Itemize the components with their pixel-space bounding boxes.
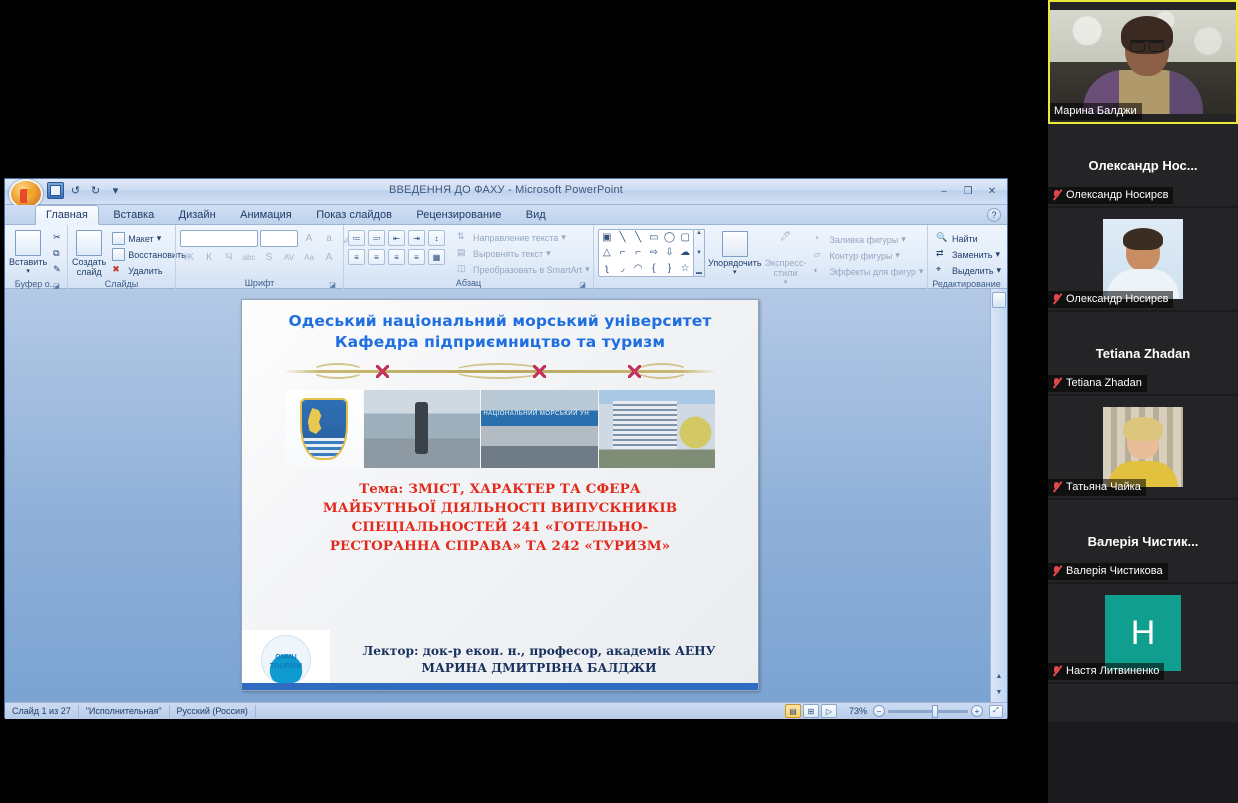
rectangle-shape-icon[interactable]: ▭ — [649, 232, 658, 243]
shield-icon — [300, 398, 348, 460]
shapes-scroll-up-icon[interactable]: ▲ — [696, 230, 702, 236]
convert-smartart-button[interactable]: ◫ Преобразовать в SmartArt ▾ — [453, 262, 594, 277]
font-row-top: A a 🖌 — [180, 230, 358, 247]
line-shape-icon[interactable]: ╲ — [619, 232, 625, 243]
participant-name-bar: Tetiana Zhadan — [1048, 375, 1147, 392]
avatar-hair — [1123, 228, 1163, 250]
participant-name-bar: Настя Литвиненко — [1048, 663, 1164, 680]
participant-tile-oleksandr-name[interactable]: Олександр Нос... Олександр Носирєв — [1048, 124, 1238, 208]
divider-swirl-center — [454, 363, 544, 379]
scissors-icon: ✂ — [53, 232, 66, 245]
participant-name: Олександр Носирєв — [1066, 292, 1168, 306]
line-spacing-icon[interactable]: ↕ — [428, 230, 445, 246]
tab-insert[interactable]: Вставка — [103, 206, 164, 226]
shape-outline-icon: ▱ — [813, 249, 826, 262]
prev-next-slide-buttons[interactable]: ▲ ▼ — [992, 669, 1007, 700]
clipboard-label-text: Буфер о... — [15, 279, 58, 289]
divider-swirl-left — [312, 363, 364, 379]
theme-line-2: МАЙБУТНЬОЇ ДІЯЛЬНОСТІ ВИПУСКНИКІВ — [254, 499, 746, 518]
participant-initial-avatar: Н — [1105, 595, 1181, 671]
participant-tile-active-speaker[interactable]: Марина Балджи — [1048, 0, 1238, 124]
slide-header-line-1: Одеський національний морський університ… — [242, 311, 758, 332]
down-arrow-shape-icon[interactable]: ⇩ — [665, 247, 673, 258]
avatar-hair — [1123, 417, 1163, 441]
campus-photo-building — [599, 390, 715, 468]
group-drawing: ▣ ╲ ╲ ▭ ◯ ▢ △ ⌐ ⌐ ⇨ ⇩ ☁ ʅ — [593, 225, 927, 289]
minimize-button[interactable]: – — [933, 183, 955, 199]
quick-styles-button[interactable]: 🖊 Экспресс-стили ▾ — [765, 229, 807, 288]
quick-styles-label: Экспресс-стили — [765, 258, 807, 278]
campus-photo-students — [481, 390, 597, 468]
mic-off-icon — [1052, 665, 1062, 677]
bold-button[interactable]: Ж — [180, 249, 198, 266]
paste-chevron-down-icon[interactable]: ▾ — [26, 267, 30, 277]
theme-line-3: СПЕЦІАЛЬНОСТЕЙ 241 «ГОТЕЛЬНО- — [254, 518, 746, 537]
zoom-level: 73% — [843, 706, 873, 716]
quick-styles-icon: 🖊 — [773, 231, 799, 257]
slide-bottom-accent-bar — [242, 683, 758, 690]
title-bar: ↺ ↻ ▾ ВВЕДЕННЯ ДО ФАХУ - Microsoft Power… — [5, 179, 1007, 205]
shape-effects-button[interactable]: ◐ Эффекты для фигур ▾ — [809, 264, 927, 279]
new-slide-label: Создать слайд — [72, 257, 106, 277]
quick-styles-chevron-down-icon[interactable]: ▾ — [784, 278, 788, 288]
font-color-button[interactable]: A — [320, 249, 338, 266]
text-direction-icon: ⇅ — [457, 231, 470, 244]
numbering-icon[interactable]: ≕ — [368, 230, 385, 246]
cloud-shape-icon[interactable]: ☁ — [680, 247, 690, 258]
glasses-icon — [1130, 40, 1164, 49]
triangle-shape-icon[interactable]: △ — [603, 247, 611, 258]
zoom-slider[interactable]: − + — [873, 705, 989, 717]
slide-header-line-2: Кафедра підприємництво та туризм — [242, 332, 758, 353]
participant-tile-tatyana-photo[interactable]: Татьяна Чайка — [1048, 396, 1238, 500]
shapes-grid[interactable]: ▣ ╲ ╲ ▭ ◯ ▢ △ ⌐ ⌐ ⇨ ⇩ ☁ ʅ — [598, 229, 694, 277]
group-slides: Создать слайд Макет ▾ Восстановить — [67, 225, 175, 289]
shapes-gallery[interactable]: ▣ ╲ ╲ ▭ ◯ ▢ △ ⌐ ⌐ ⇨ ⇩ ☁ ʅ — [598, 229, 705, 277]
paragraph-dialog-launcher-icon[interactable]: ◪ — [578, 280, 587, 289]
cursor-select-icon: ⌖ — [936, 264, 949, 277]
align-text-chevron-down-icon[interactable]: ▾ — [546, 248, 551, 259]
participant-name: Валерія Чистикова — [1066, 564, 1163, 578]
tab-design[interactable]: Дизайн — [169, 206, 226, 226]
copy-icon: ⧉ — [53, 248, 66, 261]
arrange-icon — [722, 231, 748, 257]
font-dialog-launcher-icon[interactable]: ◪ — [328, 280, 337, 289]
tab-review[interactable]: Рецензирование — [406, 206, 511, 226]
mic-off-icon — [1052, 565, 1062, 577]
participant-big-name: Tetiana Zhadan — [1048, 346, 1238, 361]
shrink-font-button[interactable]: a — [320, 230, 338, 247]
theme-line-4: РЕСТОРАННА СПРАВА» ТА 242 «ТУРИЗМ» — [254, 537, 746, 556]
editor-vertical-scrollbar[interactable]: ▲ ▼ — [990, 289, 1007, 702]
shapes-scrollbar[interactable]: ▲ ▼ ▬ — [694, 229, 705, 277]
participant-name: Марина Балджи — [1054, 104, 1137, 118]
divider-swirl-right — [636, 363, 688, 379]
decrease-indent-icon[interactable]: ⇤ — [388, 230, 405, 246]
font-size-combo[interactable] — [260, 230, 298, 247]
previous-slide-icon[interactable]: ▲ — [992, 669, 1007, 684]
next-slide-icon[interactable]: ▼ — [992, 685, 1007, 700]
new-slide-icon — [76, 230, 102, 256]
group-label-font: Шрифт ◪ — [180, 277, 339, 289]
shape-outline-label: Контур фигуры — [829, 251, 892, 261]
right-brace-shape-icon[interactable]: } — [668, 263, 671, 274]
smartart-icon: ◫ — [457, 263, 470, 276]
font-name-combo[interactable] — [180, 230, 258, 247]
new-slide-button[interactable]: Создать слайд — [72, 228, 106, 277]
group-font: A a 🖌 Ж К Ч abc S AV Aa A — [175, 225, 343, 289]
participant-tile-empty — [1048, 684, 1238, 724]
columns-icon[interactable]: ▦ — [428, 249, 445, 265]
align-center-icon[interactable]: ≡ — [368, 249, 385, 265]
screen: ↺ ↻ ▾ ВВЕДЕННЯ ДО ФАХУ - Microsoft Power… — [0, 0, 1238, 803]
font-row-bottom: Ж К Ч abc S AV Aa A — [180, 249, 338, 266]
help-icon[interactable]: ? — [987, 208, 1001, 222]
select-label: Выделить — [952, 266, 994, 276]
participant-name-bar: Олександр Носирєв — [1048, 291, 1173, 308]
bullets-icon[interactable]: ≔ — [348, 230, 365, 246]
delete-label: Удалить — [128, 266, 162, 276]
normal-view-icon[interactable]: ▤ — [785, 704, 801, 718]
window-controls: – ❐ ✕ — [933, 183, 1003, 199]
left-brace-shape-icon[interactable]: { — [652, 263, 655, 274]
participant-big-name: Валерія Чистик... — [1048, 534, 1238, 549]
participant-name-bar: Марина Балджи — [1050, 103, 1142, 120]
speaker-video-feed — [1050, 10, 1236, 114]
increase-indent-icon[interactable]: ⇥ — [408, 230, 425, 246]
view-buttons: ▤ ⊞ ▷ — [785, 704, 843, 718]
close-button[interactable]: ✕ — [981, 183, 1003, 199]
group-paragraph: ≔ ≕ ⇤ ⇥ ↕ ≡ ≡ ≡ ≡ ▦ — [343, 225, 593, 289]
odessa-coat-of-arms-icon — [285, 390, 363, 468]
shape-fill-icon: ◔ — [813, 233, 826, 246]
oval-shape-icon[interactable]: ◯ — [664, 232, 675, 243]
shapes-scroll-down-icon[interactable]: ▼ — [696, 250, 702, 256]
participant-name-bar: Татьяна Чайка — [1048, 479, 1146, 496]
powerpoint-window: ↺ ↻ ▾ ВВЕДЕННЯ ДО ФАХУ - Microsoft Power… — [4, 178, 1008, 718]
divider-flower-2 — [533, 365, 546, 378]
zoom-track[interactable] — [888, 710, 968, 713]
reset-icon — [112, 248, 125, 261]
theme-line-1: Тема: ЗМІСТ, ХАРАКТЕР ТА СФЕРА — [254, 480, 746, 499]
curve-shape-icon[interactable]: ◞ — [621, 263, 625, 274]
tab-animation[interactable]: Анимация — [230, 206, 302, 226]
group-label-paragraph: Абзац ◪ — [348, 277, 589, 289]
divider-flower-3 — [628, 365, 641, 378]
paste-icon — [15, 230, 41, 256]
change-case-button[interactable]: Aa — [300, 249, 318, 266]
restore-button[interactable]: ❐ — [957, 183, 979, 199]
convert-smartart-label: Преобразовать в SmartArt — [473, 265, 582, 275]
participant-tile-valeriia-name[interactable]: Валерія Чистик... Валерія Чистикова — [1048, 500, 1238, 584]
grow-font-button[interactable]: A — [300, 230, 318, 247]
arc-shape-icon[interactable]: ◠ — [634, 263, 643, 274]
shape-outline-button[interactable]: ▱ Контур фигуры ▾ — [809, 248, 927, 263]
text-direction-chevron-down-icon[interactable]: ▾ — [561, 232, 566, 243]
shapes-more-icon[interactable]: ▬ — [696, 270, 702, 276]
slide-footer: Лектор: док-р екон. н., професор, академ… — [242, 630, 758, 690]
campus-photo-anchor — [364, 390, 480, 468]
editing-label-text: Редактирование — [932, 279, 1001, 289]
shape-outline-chevron-down-icon[interactable]: ▾ — [895, 250, 900, 261]
participant-name-bar: Валерія Чистикова — [1048, 563, 1168, 580]
paste-button[interactable]: Вставить ▾ — [9, 228, 47, 277]
participant-name: Настя Литвиненко — [1066, 664, 1159, 678]
participant-name: Татьяна Чайка — [1066, 480, 1141, 494]
arrow-shape-icon[interactable]: ╲ — [635, 232, 641, 243]
tab-slideshow[interactable]: Показ слайдов — [306, 206, 402, 226]
participant-big-name: Олександр Нос... — [1048, 158, 1238, 173]
mic-off-icon — [1052, 481, 1062, 493]
fit-to-window-icon[interactable]: ⤢ — [989, 705, 1003, 718]
slide-header: Одеський національний морський університ… — [242, 300, 758, 353]
elbow-arrow-icon[interactable]: ⌐ — [635, 247, 641, 258]
ribbon-tab-bar: Главная Вставка Дизайн Анимация Показ сл… — [5, 205, 1007, 225]
text-shadow-button[interactable]: S — [260, 249, 278, 266]
paragraph-buttons: ≔ ≕ ⇤ ⇥ ↕ ≡ ≡ ≡ ≡ ▦ — [348, 230, 445, 265]
elbow-connector-icon[interactable]: ⌐ — [620, 247, 626, 258]
participant-name-bar: Олександр Носирєв — [1048, 187, 1173, 204]
shape-effects-label: Эффекты для фигур — [829, 267, 915, 277]
smartart-chevron-down-icon[interactable]: ▾ — [585, 264, 590, 275]
replace-icon: ⇄ — [936, 248, 949, 261]
zoom-knob[interactable] — [932, 705, 938, 718]
character-spacing-button[interactable]: AV — [280, 249, 298, 266]
select-button[interactable]: ⌖ Выделить ▾ — [932, 263, 1005, 278]
slide-counter: Слайд 1 из 27 — [5, 705, 79, 718]
participant-tile-nastya-initial[interactable]: Н Настя Литвиненко — [1048, 584, 1238, 684]
paste-label: Вставить — [9, 257, 47, 267]
align-left-icon[interactable]: ≡ — [348, 249, 365, 265]
participant-avatar — [1103, 407, 1183, 487]
slide-editing-area[interactable]: Одеський національний морський університ… — [5, 289, 1007, 702]
underline-button[interactable]: Ч — [220, 249, 238, 266]
right-arrow-shape-icon[interactable]: ⇨ — [650, 247, 658, 258]
rounded-rect-shape-icon[interactable]: ▢ — [680, 232, 689, 243]
shape-fill-button[interactable]: ◔ Заливка фигуры ▾ — [809, 232, 927, 247]
participant-tile-oleksandr-photo[interactable]: Олександр Носирєв — [1048, 208, 1238, 312]
shape-effects-icon: ◐ — [813, 265, 826, 278]
window-title: ВВЕДЕННЯ ДО ФАХУ - Microsoft PowerPoint — [5, 184, 1007, 196]
layout-icon — [112, 232, 125, 245]
arrange-chevron-down-icon[interactable]: ▾ — [733, 268, 737, 278]
layout-label: Макет — [128, 234, 153, 244]
mic-off-icon — [1052, 377, 1062, 389]
find-label: Найти — [952, 234, 978, 244]
textbox-shape-icon[interactable]: ▣ — [602, 232, 611, 243]
lecturer-block: Лектор: док-р екон. н., професор, академ… — [330, 643, 758, 677]
slide-theme-text: Тема: ЗМІСТ, ХАРАКТЕР ТА СФЕРА МАЙБУТНЬО… — [254, 480, 746, 556]
lecturer-line-2: МАРИНА ДМИТРІВНА БАЛДЖИ — [330, 660, 748, 677]
star-shape-icon[interactable]: ☆ — [681, 263, 690, 274]
replace-label: Заменить — [952, 250, 992, 260]
search-icon: 🔍 — [936, 232, 949, 245]
text-direction-label: Направление текста — [473, 233, 558, 243]
replace-button[interactable]: ⇄ Заменить ▾ — [932, 247, 1005, 262]
participants-panel[interactable]: Марина Балджи Олександр Нос... Олександр… — [1048, 0, 1238, 803]
group-editing: 🔍 Найти ⇄ Заменить ▾ ⌖ Выделить ▾ — [927, 225, 1005, 289]
slides-label-text: Слайды — [105, 279, 139, 289]
replace-chevron-down-icon[interactable]: ▾ — [995, 249, 1000, 260]
participant-name: Олександр Носирєв — [1066, 188, 1168, 202]
photo-strip — [285, 390, 715, 468]
align-right-icon[interactable]: ≡ — [388, 249, 405, 265]
ornamental-divider — [284, 360, 716, 382]
align-text-label: Выровнять текст — [473, 249, 543, 259]
tab-view[interactable]: Вид — [516, 206, 556, 226]
ribbon: Вставить ▾ ✂ ⧉ ✎ Буфер о... ◪ — [5, 225, 1007, 289]
strikethrough-button[interactable]: abc — [240, 249, 258, 266]
italic-button[interactable]: К — [200, 249, 218, 266]
format-painter-icon: ✎ — [53, 264, 66, 277]
participant-name: Tetiana Zhadan — [1066, 376, 1142, 390]
lecturer-line-1: Лектор: док-р екон. н., професор, академ… — [330, 643, 748, 660]
theme-name: "Исполнительная" — [79, 705, 170, 718]
find-button[interactable]: 🔍 Найти — [932, 231, 1005, 246]
slide-canvas[interactable]: Одеський національний морський університ… — [241, 299, 759, 691]
scrollbar-thumb[interactable] — [992, 292, 1006, 308]
align-text-icon: ▤ — [457, 247, 470, 260]
text-direction-button[interactable]: ⇅ Направление текста ▾ — [453, 230, 594, 245]
select-chevron-down-icon[interactable]: ▾ — [997, 265, 1002, 276]
slideshow-icon[interactable]: ▷ — [821, 704, 837, 718]
freeform-shape-icon[interactable]: ʅ — [606, 263, 608, 274]
zoom-out-button[interactable]: − — [873, 705, 885, 717]
divider-flower-1 — [376, 365, 389, 378]
participant-avatar — [1103, 219, 1183, 299]
group-clipboard: Вставить ▾ ✂ ⧉ ✎ Буфер о... ◪ — [5, 225, 67, 289]
arrange-button[interactable]: Упорядочить ▾ — [708, 229, 762, 278]
align-text-button[interactable]: ▤ Выровнять текст ▾ — [453, 246, 594, 261]
language-indicator[interactable]: Русский (Россия) — [170, 705, 256, 718]
shape-fill-chevron-down-icon[interactable]: ▾ — [901, 234, 906, 245]
slide-sorter-icon[interactable]: ⊞ — [803, 704, 819, 718]
zoom-in-button[interactable]: + — [971, 705, 983, 717]
shape-effects-chevron-down-icon[interactable]: ▾ — [919, 266, 924, 277]
mic-off-icon — [1052, 293, 1062, 305]
globe-icon — [261, 635, 311, 685]
paragraph-label-text: Абзац — [456, 278, 481, 288]
font-label-text: Шрифт — [245, 278, 275, 288]
participant-tile-tetiana-name[interactable]: Tetiana Zhadan Tetiana Zhadan — [1048, 312, 1238, 396]
onmu-tourism-logo — [242, 630, 330, 690]
shape-fill-label: Заливка фигуры — [829, 235, 898, 245]
justify-icon[interactable]: ≡ — [408, 249, 425, 265]
arrange-label: Упорядочить — [708, 258, 762, 268]
layout-chevron-down-icon[interactable]: ▾ — [157, 233, 162, 244]
delete-icon: ✖ — [112, 264, 125, 277]
status-bar: Слайд 1 из 27 "Исполнительная" Русский (… — [5, 702, 1007, 719]
tab-home[interactable]: Главная — [35, 205, 99, 225]
mic-off-icon — [1052, 189, 1062, 201]
